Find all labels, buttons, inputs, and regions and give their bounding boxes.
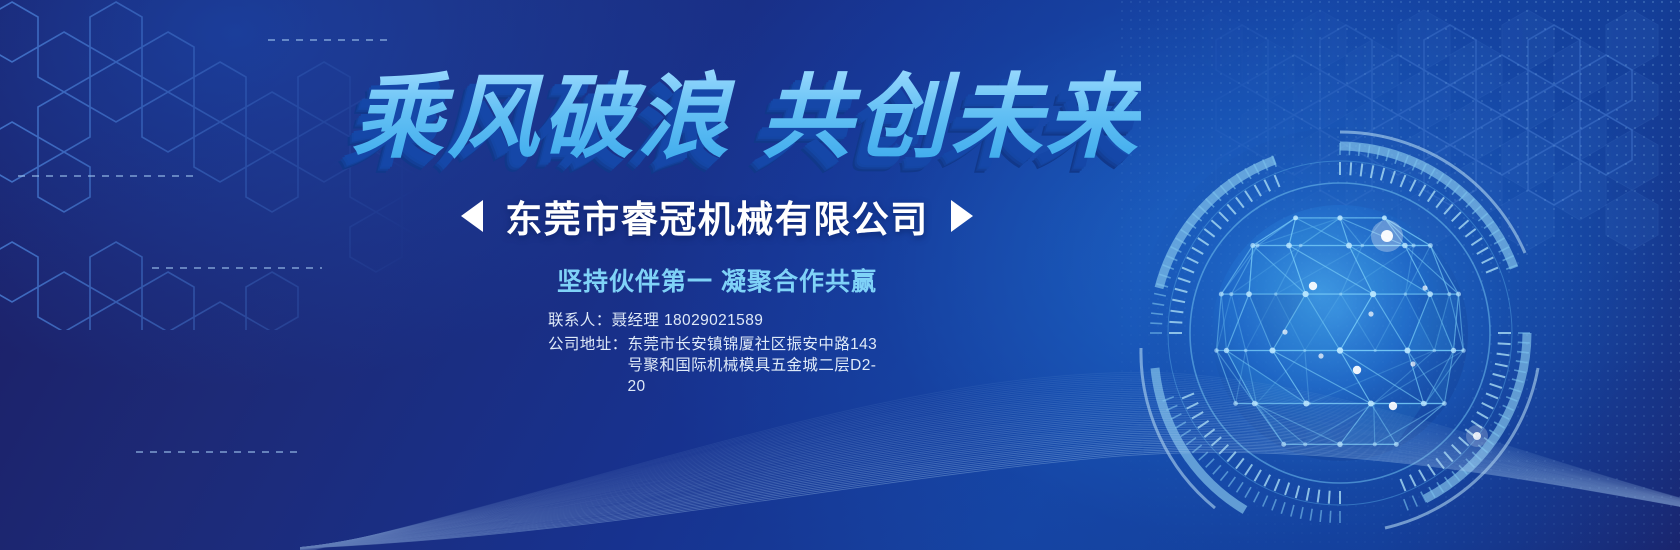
address-label: 公司地址： <box>548 334 628 355</box>
headline: 乘风破浪 共创未来 乘风破浪 共创未来 <box>352 62 1182 174</box>
promo-banner: 乘风破浪 共创未来 乘风破浪 共创未来 东莞市睿冠机械有限公司 坚持伙伴第一 凝… <box>0 0 1680 550</box>
company-name-row: 东莞市睿冠机械有限公司 <box>452 192 982 240</box>
slogan: 坚持伙伴第一 凝聚合作共赢 <box>452 262 982 298</box>
headline-main-text: 乘风破浪 共创未来 <box>352 62 1141 174</box>
contact-block: 联系人：聂经理 18029021589 公司地址： 东莞市长安镇锦厦社区振安中路… <box>548 310 893 397</box>
left-triangle-icon <box>461 200 483 232</box>
address-value: 东莞市长安镇锦厦社区振安中路143号聚和国际机械模具五金城二层D2-20 <box>628 334 893 397</box>
company-address: 公司地址： 东莞市长安镇锦厦社区振安中路143号聚和国际机械模具五金城二层D2-… <box>548 334 893 397</box>
contact-person: 联系人：聂经理 18029021589 <box>548 310 893 331</box>
company-name: 东莞市睿冠机械有限公司 <box>505 189 929 243</box>
right-triangle-icon <box>951 200 973 232</box>
network-globe-graphic <box>1125 118 1555 548</box>
